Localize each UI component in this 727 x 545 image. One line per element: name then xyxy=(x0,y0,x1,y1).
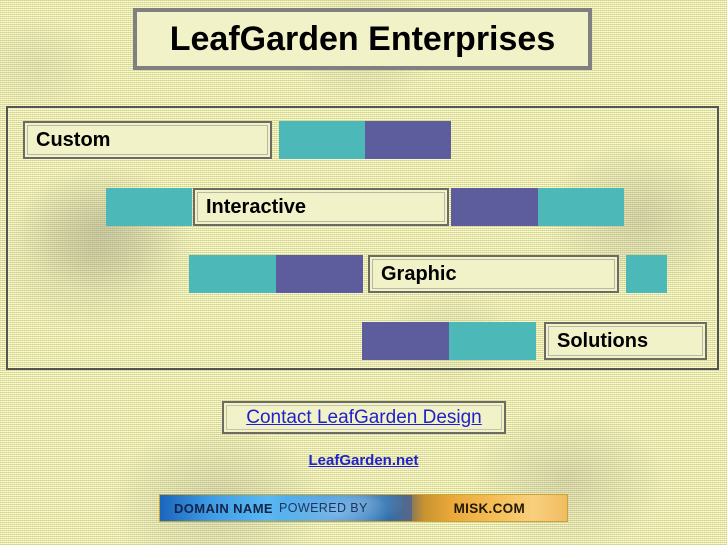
banner-sponsor-label: MISK.COM xyxy=(454,501,525,516)
decorative-block-purple xyxy=(365,121,451,159)
decorative-block-teal xyxy=(106,188,192,226)
banner-domain-label: DOMAIN NAME xyxy=(174,501,273,516)
decorative-block-teal xyxy=(538,188,624,226)
decorative-block-purple xyxy=(451,188,538,226)
decorative-block-teal xyxy=(189,255,276,293)
page-root: LeafGarden Enterprises CustomInteractive… xyxy=(0,0,727,545)
service-row: Interactive xyxy=(8,188,717,226)
decorative-block-teal xyxy=(279,121,365,159)
site-link[interactable]: LeafGarden.net xyxy=(308,452,418,469)
service-label-text: Custom xyxy=(25,129,110,152)
service-label-box: Interactive xyxy=(193,188,449,226)
service-row: Graphic xyxy=(8,255,717,293)
service-label-box: Custom xyxy=(23,121,272,159)
decorative-block-teal xyxy=(626,255,667,293)
banner-powered-label: POWERED BY xyxy=(279,501,368,515)
service-label-text: Graphic xyxy=(370,263,457,286)
page-title-bar: LeafGarden Enterprises xyxy=(133,8,592,70)
decorative-block-teal xyxy=(449,322,536,360)
contact-link-box[interactable]: Contact LeafGarden Design xyxy=(222,401,506,434)
site-link-wrapper: LeafGarden.net xyxy=(0,452,727,470)
banner-text-layer: DOMAIN NAME POWERED BY MISK.COM xyxy=(160,495,567,521)
service-label-box: Graphic xyxy=(368,255,619,293)
page-title: LeafGarden Enterprises xyxy=(170,20,555,59)
sponsor-banner[interactable]: DOMAIN NAME POWERED BY MISK.COM xyxy=(159,494,568,522)
main-content-panel: CustomInteractiveGraphicSolutions xyxy=(6,106,719,370)
service-label-text: Solutions xyxy=(546,330,648,353)
service-label-text: Interactive xyxy=(195,196,306,219)
decorative-block-purple xyxy=(362,322,449,360)
decorative-block-purple xyxy=(276,255,363,293)
service-label-box: Solutions xyxy=(544,322,707,360)
sponsor-banner-graphic: DOMAIN NAME POWERED BY MISK.COM xyxy=(160,495,567,521)
service-row: Custom xyxy=(8,121,717,159)
service-row: Solutions xyxy=(8,322,717,360)
contact-link[interactable]: Contact LeafGarden Design xyxy=(246,407,482,429)
